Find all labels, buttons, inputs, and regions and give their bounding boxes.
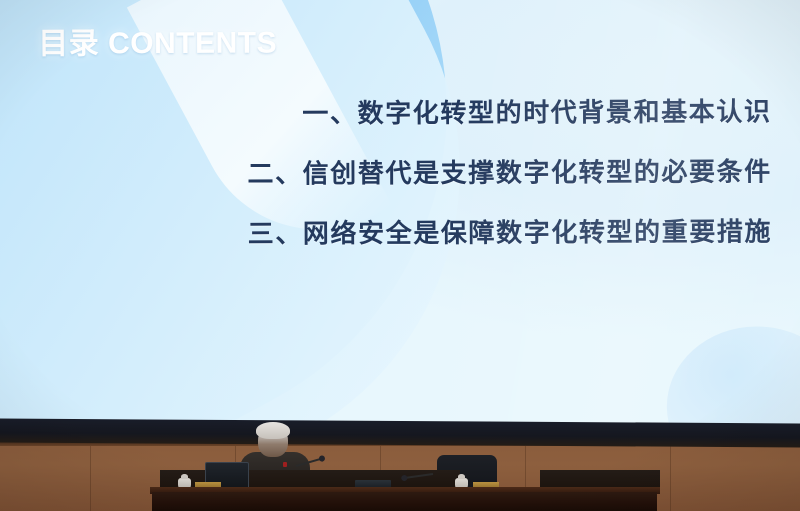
lapel-pin-icon — [283, 462, 287, 467]
screen-lower-frame — [0, 418, 800, 447]
conference-table-front — [152, 492, 657, 511]
photo-of-conference-room: 目录 CONTENTS 一、数字化转型的时代背景和基本认识 二、信创替代是支撑数… — [0, 0, 800, 511]
contents-item-2: 二、信创替代是支撑数字化转型的必要条件 — [114, 158, 772, 187]
contents-item-3: 三、网络安全是保障数字化转型的重要措施 — [114, 218, 772, 247]
slide-title: 目录 CONTENTS — [38, 18, 277, 63]
projection-screen: 目录 CONTENTS 一、数字化转型的时代背景和基本认识 二、信创替代是支撑数… — [0, 0, 800, 430]
contents-item-1: 一、数字化转型的时代背景和基本认识 — [114, 98, 772, 127]
contents-list: 一、数字化转型的时代背景和基本认识 二、信创替代是支撑数字化转型的必要条件 三、… — [114, 98, 773, 247]
presenter-hair — [256, 422, 290, 439]
